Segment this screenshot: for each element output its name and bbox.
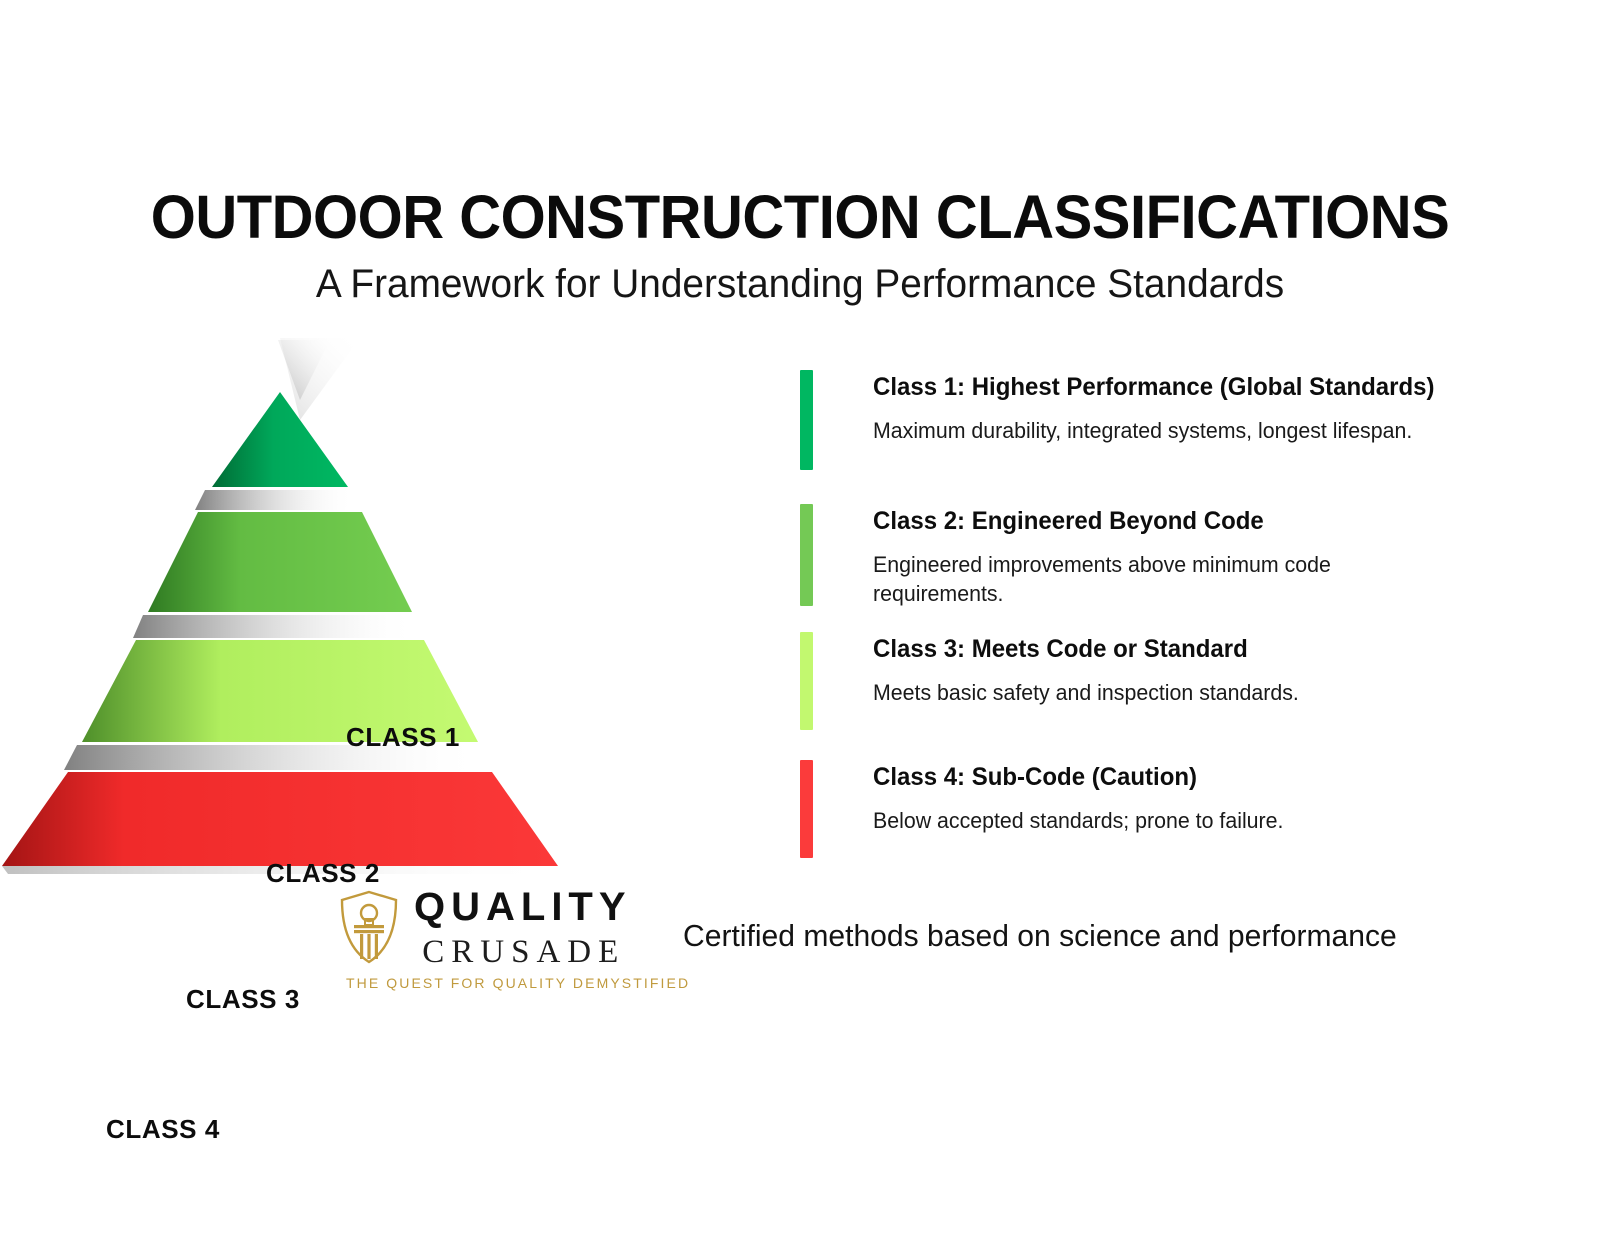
- legend-description-class-2: Engineered improvements above minimum co…: [873, 550, 1397, 608]
- pyramid-diagram: CLASS 1 CLASS 2 CLASS 3 CLASS 4: [0, 330, 800, 890]
- shield-icon: [338, 889, 400, 965]
- legend-title-class-4: Class 4: Sub-Code (Caution): [873, 762, 1279, 792]
- logo-row: QUALITY CRUSADE: [338, 885, 632, 969]
- pyramid-tier-4[interactable]: [2, 772, 558, 866]
- header: OUTDOOR CONSTRUCTION CLASSIFICATIONS A F…: [0, 185, 1600, 307]
- legend-item-class-2[interactable]: Class 2: Engineered Beyond Code Engineer…: [800, 504, 1413, 606]
- footer-note: Certified methods based on science and p…: [683, 918, 1397, 954]
- legend-item-class-3[interactable]: Class 3: Meets Code or Standard Meets ba…: [800, 632, 1312, 730]
- logo-secondary-word: CRUSADE: [416, 936, 632, 969]
- brand-logo[interactable]: QUALITY CRUSADE THE QUEST FOR QUALITY DE…: [338, 885, 658, 995]
- page-title: OUTDOOR CONSTRUCTION CLASSIFICATIONS: [40, 185, 1560, 249]
- legend-description-class-4: Below accepted standards; prone to failu…: [873, 806, 1283, 835]
- legend-color-swatch-class-3: [800, 632, 813, 730]
- legend-item-class-1[interactable]: Class 1: Highest Performance (Global Sta…: [800, 370, 1458, 470]
- pyramid-label-class-4: CLASS 4: [0, 1114, 220, 1145]
- logo-tagline: THE QUEST FOR QUALITY DEMYSTIFIED: [346, 975, 658, 991]
- legend-item-class-4[interactable]: Class 4: Sub-Code (Caution) Below accept…: [800, 760, 1296, 858]
- pyramid-apex-glow-2: [280, 338, 360, 420]
- pyramid-label-class-1: CLASS 1: [180, 722, 460, 753]
- legend-color-swatch-class-1: [800, 370, 813, 470]
- pyramid-graphic: [0, 330, 800, 890]
- pyramid-gap-2: [133, 615, 417, 638]
- page-subtitle: A Framework for Understanding Performanc…: [24, 261, 1576, 307]
- legend-color-swatch-class-2: [800, 504, 813, 606]
- legend-title-class-1: Class 1: Highest Performance (Global Sta…: [873, 372, 1434, 402]
- legend-description-class-1: Maximum durability, integrated systems, …: [873, 416, 1440, 445]
- legend-description-class-3: Meets basic safety and inspection standa…: [873, 678, 1299, 707]
- legend-title-class-2: Class 2: Engineered Beyond Code: [873, 506, 1391, 536]
- logo-wordmark: QUALITY CRUSADE: [414, 885, 632, 969]
- pyramid-tier-2[interactable]: [148, 512, 412, 612]
- pyramid-tier-1[interactable]: [212, 392, 348, 487]
- logo-primary-word: QUALITY: [414, 887, 632, 927]
- pyramid-gap-1: [195, 490, 355, 510]
- legend-color-swatch-class-4: [800, 760, 813, 858]
- pyramid-label-class-3: CLASS 3: [20, 984, 300, 1015]
- legend-title-class-3: Class 3: Meets Code or Standard: [873, 634, 1294, 664]
